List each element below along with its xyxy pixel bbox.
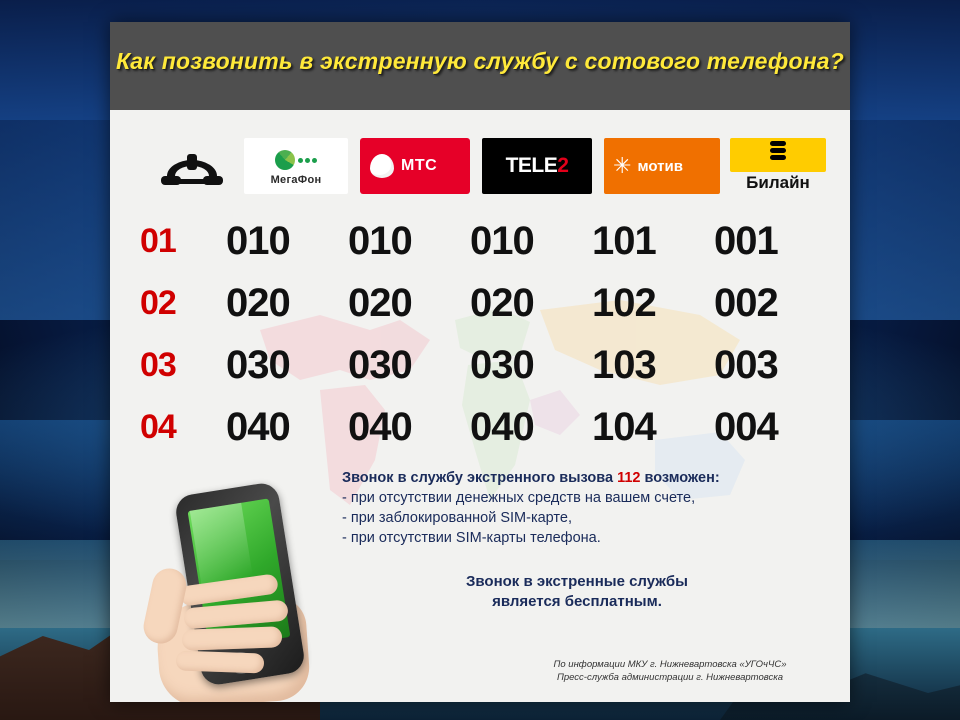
number-motiv: 104 [592,396,656,458]
beeline-logo: Билайн [730,138,826,194]
number-motiv: 102 [592,272,656,334]
info-line-1-post: возможен: [640,470,719,486]
number-megafon: 010 [226,210,290,272]
service-code: 03 [140,334,176,396]
number-tele2: 030 [470,334,534,396]
motiv-logo: ✳ мотив [604,138,720,194]
free-call-note: Звонок в экстренные службы является бесп… [342,572,812,612]
tele2-label-part2: 2 [557,154,568,177]
free-call-line-2-post: . [658,593,662,610]
number-megafon: 020 [226,272,290,334]
table-row: 01 010 010 010 101 001 [110,210,850,272]
telephone-icon-glyph [157,146,227,192]
number-mts: 040 [348,396,412,458]
info-line-2: - при отсутствии денежных средств на ваш… [342,488,812,508]
info-line-3: - при заблокированной SIM-карте, [342,508,812,528]
emergency-number-112: 112 [617,470,640,486]
finger-3 [182,626,283,650]
table-row: 03 030 030 030 103 003 [110,334,850,396]
poster-body: МегаФон МТС TELE2 ✳ мотив [110,110,850,702]
free-call-line-2: является бесплатным. [342,592,812,612]
table-row: 02 020 020 020 102 002 [110,272,850,334]
motiv-star-icon: ✳ [613,155,631,177]
poster-title: Как позвонить в экстренную службу с сото… [110,48,850,75]
info-block: Звонок в службу экстренного вызова 112 в… [342,468,812,548]
poster: Как позвонить в экстренную службу с сото… [110,22,850,702]
number-megafon: 030 [226,334,290,396]
finger-4 [176,650,265,673]
free-call-line-1: Звонок в экстренные службы [342,572,812,592]
megafon-label: МегаФон [271,174,322,186]
number-motiv: 103 [592,334,656,396]
info-line-1-pre: Звонок в службу экстренного вызова [342,470,617,486]
service-code: 02 [140,272,176,334]
service-code: 01 [140,210,176,272]
number-tele2: 010 [470,210,534,272]
number-megafon: 040 [226,396,290,458]
number-beeline: 004 [714,396,778,458]
tele2-logo: TELE2 [482,138,592,194]
free-call-bold: бесплатным [565,593,658,610]
mts-logo: МТС [360,138,470,194]
megafon-sphere-icon [275,150,295,170]
emergency-number-table: 01 010 010 010 101 001 02 020 020 020 10… [110,210,850,458]
service-code: 04 [140,396,176,458]
number-tele2: 020 [470,272,534,334]
operator-logo-row: МегаФон МТС TELE2 ✳ мотив [110,138,850,204]
hand-holding-phone-illustration [140,482,360,702]
tele2-label: TELE2 [506,154,569,178]
table-row: 04 040 040 040 104 004 [110,396,850,458]
info-line-1: Звонок в службу экстренного вызова 112 в… [342,468,812,488]
number-mts: 030 [348,334,412,396]
credit-line-2: Пресс-служба администрации г. Нижневарто… [510,671,830,684]
motiv-label: мотив [637,158,682,175]
number-beeline: 001 [714,210,778,272]
beeline-stripe-icon [730,138,826,172]
slide-canvas: Как позвонить в экстренную службу с сото… [0,0,960,720]
credit-line-1: По информации МКУ г. Нижневартовска «УГО… [510,658,830,671]
credit-block: По информации МКУ г. Нижневартовска «УГО… [510,658,830,684]
number-motiv: 101 [592,210,656,272]
free-call-line-2-pre: является [492,593,565,610]
number-beeline: 002 [714,272,778,334]
megafon-logo: МегаФон [244,138,348,194]
number-beeline: 003 [714,334,778,396]
beeline-label: Билайн [746,174,810,191]
mts-egg-icon [370,154,394,178]
number-mts: 010 [348,210,412,272]
number-mts: 020 [348,272,412,334]
info-line-4: - при отсутствии SIM-карты телефона. [342,528,812,548]
number-tele2: 040 [470,396,534,458]
tele2-label-part1: TELE [506,154,558,177]
mts-label: МТС [401,157,437,175]
megafon-dots-icon [298,158,317,163]
telephone-icon [150,144,234,194]
